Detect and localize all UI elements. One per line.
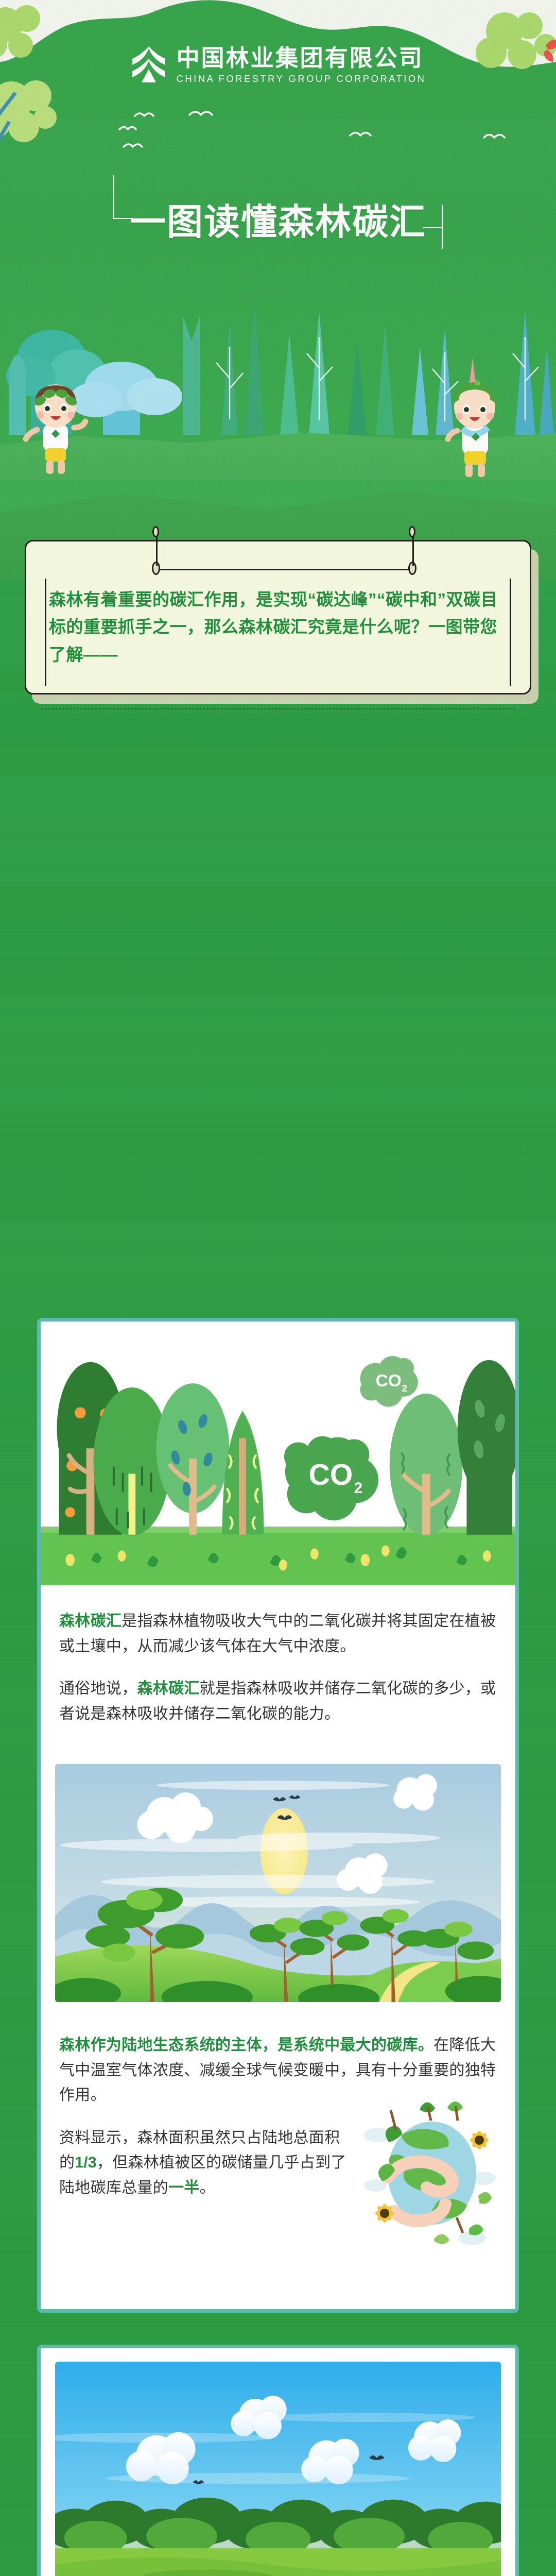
- hero-title-row: 一图读懂森林碳汇: [0, 183, 556, 255]
- paragraph-statistics: 资料显示，森林面积虽然只占陆地总面积的1/3，但森林植被区的碳储量几乎占到了陆地…: [41, 2126, 370, 2201]
- hero-banner: 中国林业集团有限公司 CHINA FORESTRY GROUP CORPORAT…: [0, 0, 556, 581]
- illustration-2-frame: [55, 1764, 501, 2003]
- title-tick-right-icon: [426, 183, 457, 255]
- value-half: 一半: [168, 2179, 200, 2196]
- intro-card-wrapper: 森林有着重要的碳汇作用，是实现“碳达峰”“碳中和”双碳目标的重要抓手之一，那么森…: [25, 540, 531, 694]
- content-card-1: CO 2 CO 2: [37, 1318, 519, 2313]
- intro-card: 森林有着重要的碳汇作用，是实现“碳达峰”“碳中和”双碳目标的重要抓手之一，那么森…: [25, 540, 531, 694]
- paragraph-definition-rest: 是指森林植物吸收大气中的二氧化碳并将其固定在植被或土壤中，从而减少该气体在大气中…: [59, 1613, 496, 1655]
- svg-text:2: 2: [402, 1383, 407, 1394]
- paragraph-stat-end: 。: [200, 2179, 215, 2196]
- title-tick-left-icon: [99, 183, 130, 255]
- sunrise-mountain-meadow-illustration: [55, 1764, 501, 2003]
- brand-name-en: CHINA FORESTRY GROUP CORPORATION: [177, 73, 426, 84]
- brand-name-cn: 中国林业集团有限公司: [177, 45, 426, 71]
- mountain-pagoda-logo-icon: [130, 46, 167, 83]
- intro-text: 森林有着重要的碳汇作用，是实现“碳达峰”“碳中和”双碳目标的重要抓手之一，那么森…: [49, 586, 507, 668]
- term-forest-carbon-sink: 森林碳汇: [59, 1613, 121, 1630]
- girl-mascot-icon: [442, 379, 509, 480]
- page-title: 一图读懂森林碳汇: [130, 193, 426, 245]
- forest-trees-co2-illustration: CO 2 CO 2: [41, 1321, 515, 1585]
- hands-hugging-earth-illustration: [362, 2095, 501, 2255]
- intro-hanger-rule: [155, 569, 412, 570]
- paragraph-lead: 通俗地说，: [59, 1680, 137, 1697]
- boy-mascot-icon: [23, 380, 90, 478]
- intro-right-rule: [510, 579, 511, 686]
- term-forest-carbon-sink-2: 森林碳汇: [137, 1680, 200, 1697]
- value-one-third: 1/3: [75, 2154, 97, 2171]
- svg-text:CO: CO: [376, 1371, 402, 1391]
- intro-left-rule: [45, 579, 46, 686]
- svg-text:CO: CO: [309, 1459, 353, 1492]
- brand-logo: 中国林业集团有限公司 CHINA FORESTRY GROUP CORPORAT…: [0, 45, 556, 84]
- intro-peg-left-icon: [152, 562, 160, 575]
- content-card-2: 目前，许多国家和国际组织都在积极利用森林碳汇应对气候变化。: [37, 2345, 519, 2576]
- intro-peg-right-icon: [408, 562, 416, 575]
- illustration-3-frame: [55, 2362, 501, 2576]
- infographic-page: 中国林业集团有限公司 CHINA FORESTRY GROUP CORPORAT…: [0, 0, 556, 2576]
- blue-sky-forest-meadow-illustration: [55, 2362, 501, 2576]
- svg-text:2: 2: [354, 1480, 362, 1497]
- dashed-separator: [41, 708, 515, 709]
- highlight-carbon-pool: 森林作为陆地生态系统的主体，是系统中最大的碳库。: [59, 2037, 433, 2054]
- paragraph-plain-explanation: 通俗地说，森林碳汇就是指森林吸收并储存二氧化碳的多少，或者说是森林吸收并储存二氧…: [41, 1676, 515, 1726]
- flying-birds-icon: [0, 100, 556, 162]
- paragraph-definition: 森林碳汇是指森林植物吸收大气中的二氧化碳并将其固定在植被或土壤中，从而减少该气体…: [41, 1609, 515, 1659]
